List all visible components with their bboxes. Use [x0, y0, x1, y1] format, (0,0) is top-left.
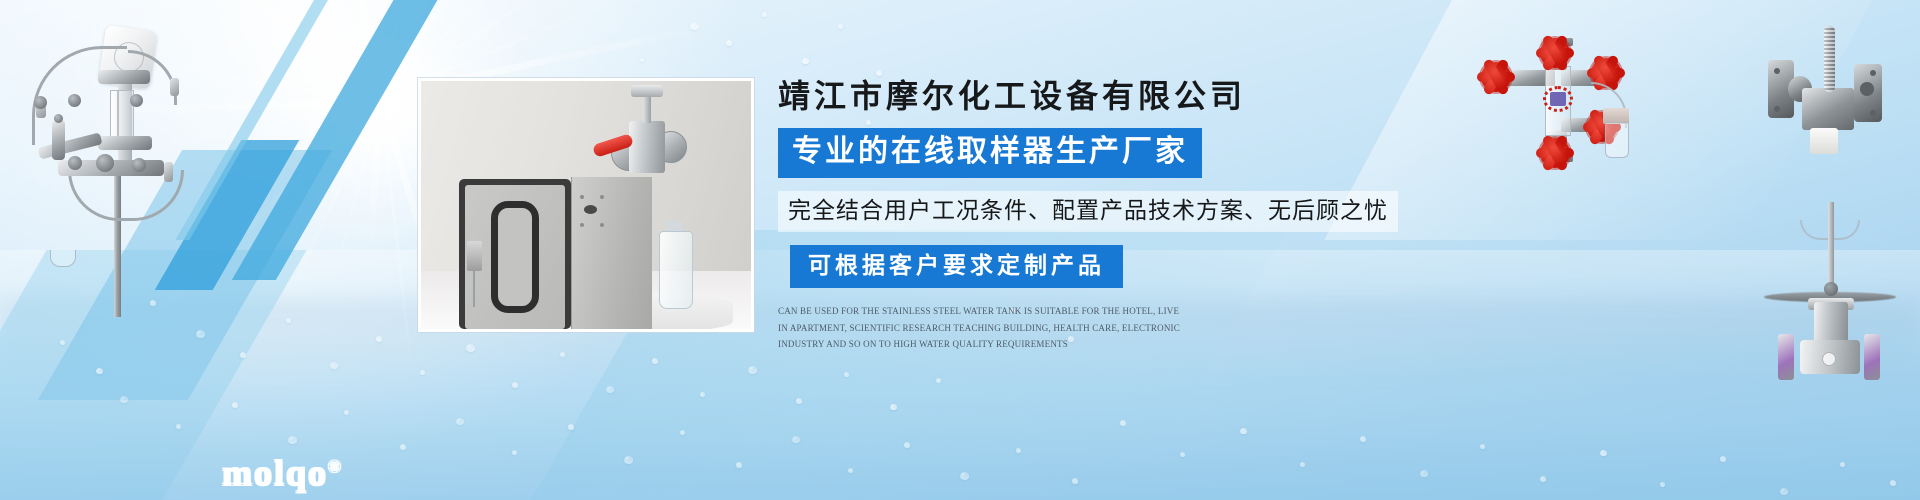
knob-d	[68, 156, 82, 170]
water-droplet	[936, 378, 941, 383]
water-droplet	[466, 344, 475, 352]
cabinet-screw-3	[580, 195, 584, 199]
water-droplet	[456, 418, 464, 425]
valve-hub-upper	[98, 70, 150, 84]
water-droplet	[330, 362, 338, 369]
cabinet-latch	[467, 241, 482, 271]
water-droplet	[512, 382, 518, 388]
water-droplet	[802, 58, 809, 64]
water-droplet	[60, 340, 65, 345]
water-droplet	[1840, 462, 1845, 467]
water-droplet	[1600, 450, 1607, 456]
water-droplet	[344, 410, 349, 415]
headline-highlight: 专业的在线取样器生产厂家	[778, 128, 1202, 178]
cross-sample-bottle	[1605, 122, 1629, 158]
lever-outlet-cup	[1810, 128, 1838, 154]
water-droplet	[652, 358, 658, 364]
water-droplet	[376, 336, 382, 342]
water-droplet	[726, 40, 732, 46]
water-droplet	[232, 402, 238, 408]
water-droplet	[1016, 448, 1021, 453]
water-droplet	[796, 398, 802, 404]
flange-lower-right	[164, 162, 173, 182]
water-droplet	[288, 436, 297, 444]
lever-bolt-3	[1870, 70, 1876, 76]
water-droplet	[420, 370, 425, 375]
right-equipment-gate-valve	[1770, 230, 1890, 390]
water-droplet	[1120, 420, 1126, 426]
sampling-valve-assembly	[599, 95, 695, 187]
water-droplet	[1360, 436, 1366, 442]
gate-nameplate	[1822, 352, 1836, 366]
water-droplet	[560, 352, 565, 357]
lever-bolt-1	[1774, 68, 1780, 74]
water-droplet	[1240, 428, 1247, 434]
water-droplet	[904, 442, 910, 448]
gate-flange-left	[1778, 334, 1794, 380]
water-droplet	[1180, 452, 1185, 457]
lever-handle	[1824, 26, 1835, 92]
registered-mark: ®	[328, 457, 341, 476]
subline-highlight: 可根据客户要求定制产品	[790, 245, 1123, 288]
water-droplet	[286, 318, 291, 323]
water-droplet	[1720, 456, 1726, 462]
cabinet-port	[584, 205, 597, 214]
banner-text-block: 靖江市摩尔化工设备有限公司 专业的在线取样器生产厂家 完全结合用户工况条件、配置…	[778, 76, 1398, 353]
water-droplet	[690, 22, 699, 30]
water-droplet	[700, 392, 705, 397]
water-droplet	[876, 70, 882, 76]
water-droplet	[680, 430, 685, 435]
lever-valve-body	[1802, 88, 1854, 130]
cabinet-screw-1	[580, 223, 584, 227]
gate-flange-right	[1864, 334, 1880, 380]
water-droplet	[624, 456, 633, 464]
gate-handwheel-hub	[1824, 282, 1838, 296]
water-droplet	[1890, 480, 1896, 486]
sampler-cabinet	[571, 177, 652, 329]
english-description: CAN BE USED FOR THE STAINLESS STEEL WATE…	[778, 303, 1183, 353]
water-droplet	[640, 58, 644, 62]
banner-stage: 靖江市摩尔化工设备有限公司 专业的在线取样器生产厂家 完全结合用户工况条件、配置…	[0, 0, 1920, 500]
relief-valve-cap	[54, 114, 63, 123]
water-droplet	[196, 330, 205, 338]
valve-hub-middle	[98, 136, 152, 150]
water-droplet	[844, 372, 849, 377]
handwheel-bottom	[1540, 138, 1570, 168]
water-droplet	[848, 468, 853, 473]
cabinet-screw-2	[600, 223, 604, 227]
water-droplet	[748, 366, 757, 374]
water-droplet	[1660, 482, 1665, 487]
company-title: 靖江市摩尔化工设备有限公司	[778, 76, 1398, 116]
cabinet-key-chain	[473, 271, 475, 307]
knob-b	[68, 94, 81, 107]
water-droplet	[838, 24, 843, 29]
handwheel-top	[1540, 38, 1570, 68]
knob-center	[96, 154, 114, 172]
drain-cup	[50, 250, 76, 267]
valve-cap	[631, 85, 663, 97]
lever-bore	[1860, 82, 1874, 96]
water-droplet	[1540, 476, 1546, 482]
water-droplet	[1780, 488, 1788, 495]
cabinet-door	[459, 179, 571, 329]
watermark-logo: molqo®	[222, 452, 341, 494]
water-droplet	[736, 462, 742, 468]
water-droplet	[120, 396, 128, 403]
water-droplet	[762, 12, 767, 17]
gate-bonnet	[1814, 302, 1848, 344]
knob-e	[132, 158, 146, 172]
water-droplet	[568, 424, 574, 430]
left-equipment-image	[10, 22, 180, 312]
water-droplet	[792, 436, 800, 443]
cabinet-screw-4	[600, 195, 604, 199]
water-droplet	[1420, 470, 1428, 477]
lever-bolt-2	[1774, 106, 1780, 112]
brand-emblem-icon	[1543, 86, 1573, 112]
flange-right	[170, 78, 179, 96]
water-droplet	[1480, 444, 1485, 449]
right-equipment-cross	[1483, 30, 1643, 170]
watermark-text: molqo	[222, 453, 328, 493]
water-droplet	[890, 404, 897, 410]
water-droplet	[512, 450, 517, 455]
knob-c	[130, 94, 143, 107]
water-droplet	[1300, 462, 1305, 467]
cabinet-door-window	[491, 201, 539, 313]
water-droplet	[606, 386, 614, 393]
sample-bottle	[659, 231, 693, 309]
relief-valve-body	[52, 120, 65, 160]
water-droplet	[240, 352, 246, 358]
water-droplet	[960, 472, 969, 480]
diagonal-stripe-thin	[175, 0, 362, 240]
knob-a	[34, 96, 47, 109]
valve-body	[629, 121, 665, 173]
valve-stem	[643, 93, 651, 123]
water-droplet	[176, 424, 181, 429]
lever-bolt-4	[1870, 110, 1876, 116]
water-droplet	[96, 368, 103, 374]
subline-plain: 完全结合用户工况条件、配置产品技术方案、无后顾之忧	[778, 191, 1398, 232]
water-droplet	[400, 444, 406, 450]
product-photo[interactable]	[418, 78, 754, 332]
right-equipment-lever-valve	[1760, 28, 1910, 178]
handwheel-left	[1481, 62, 1511, 92]
water-droplet	[1072, 478, 1078, 484]
